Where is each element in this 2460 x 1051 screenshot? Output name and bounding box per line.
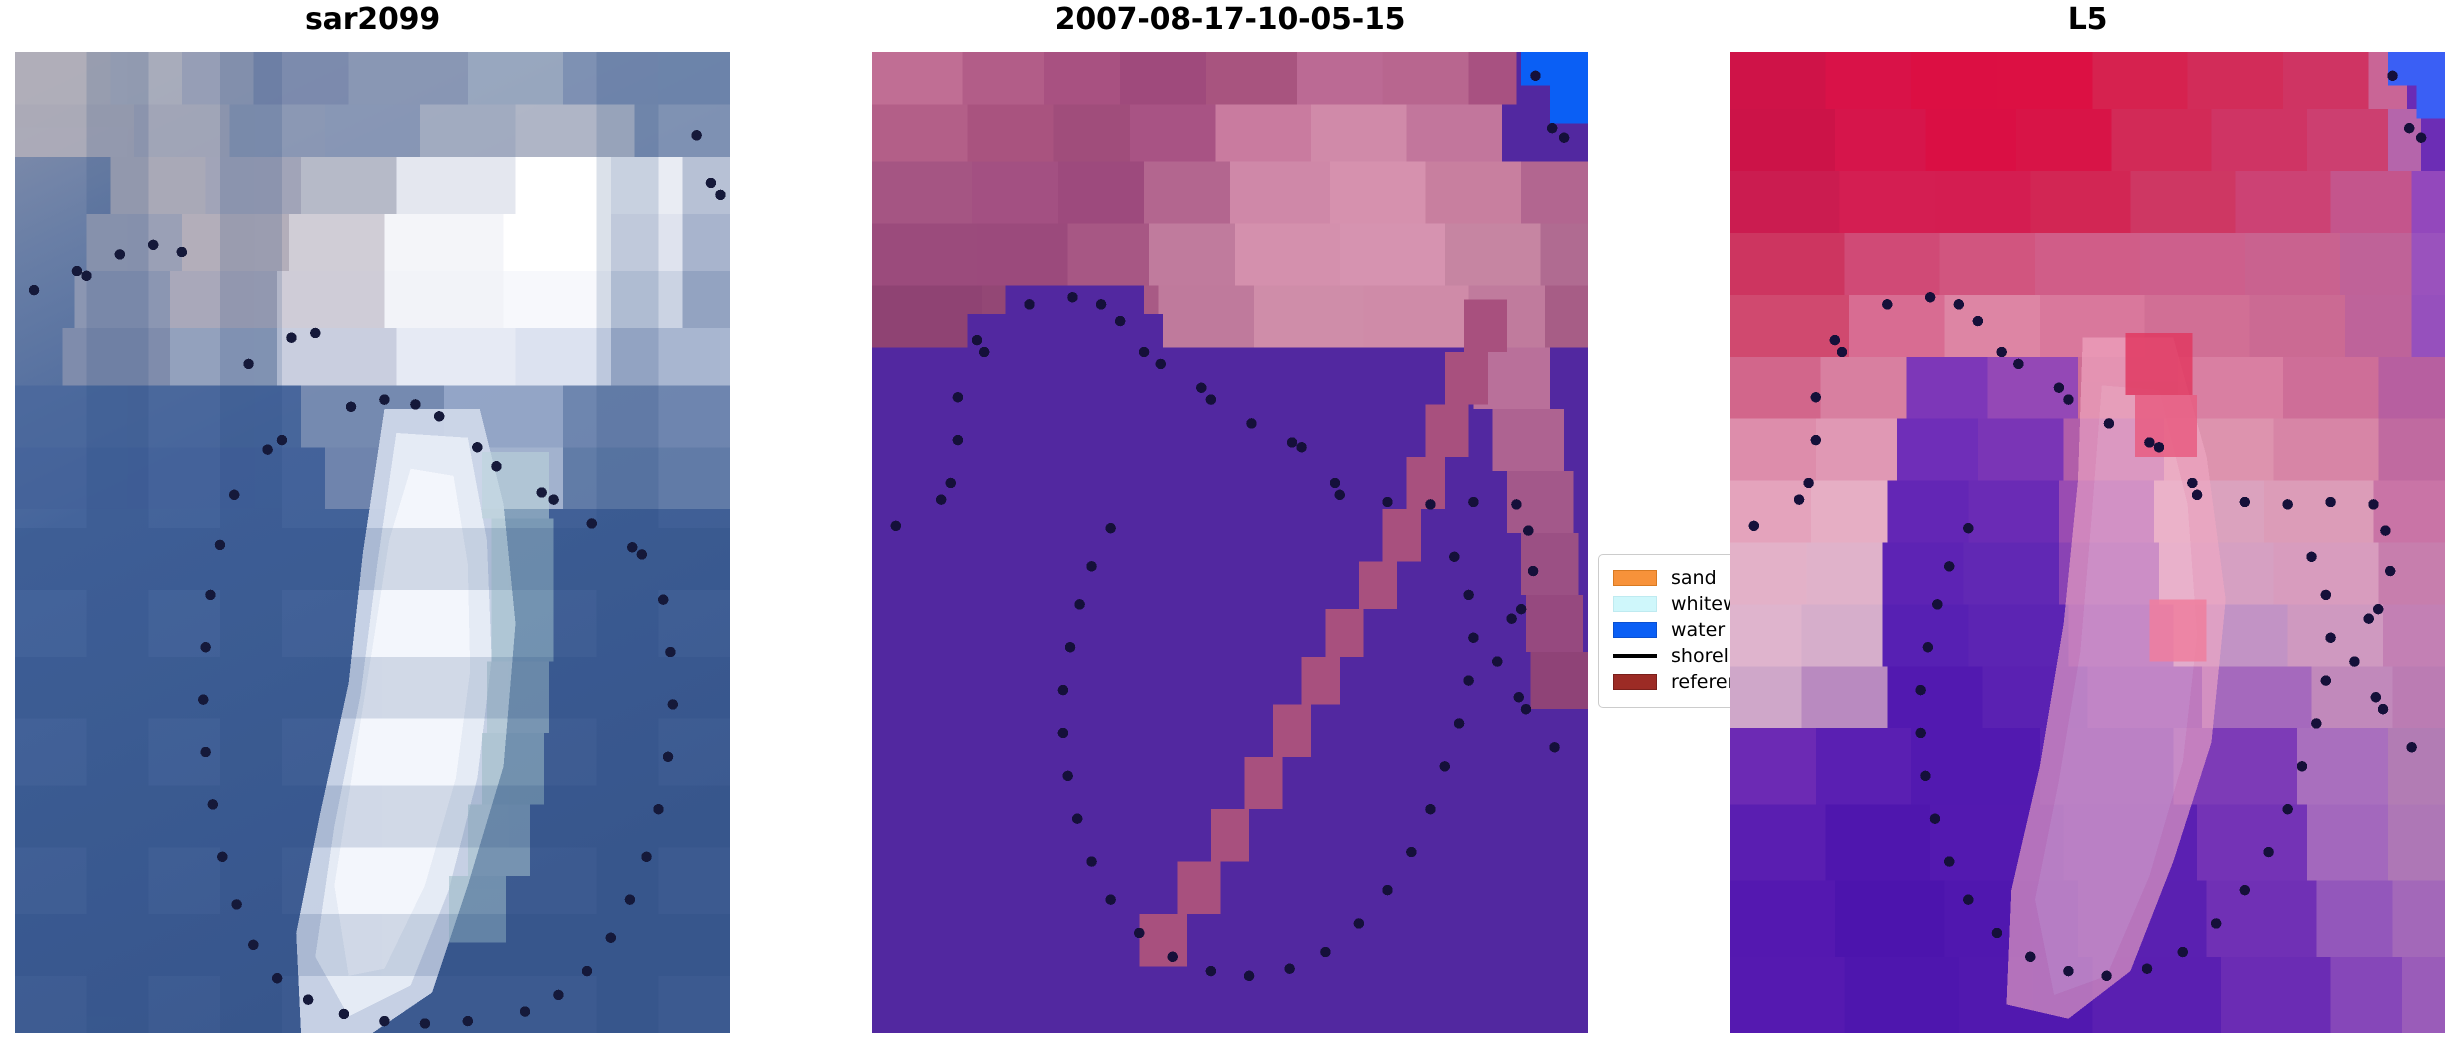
legend-label-sand: sand — [1671, 565, 1717, 591]
figure-canvas: sar2099 — [0, 0, 2460, 1051]
reference-shoreline-swatch — [1613, 674, 1657, 690]
sand-swatch — [1613, 570, 1657, 586]
panel-title-classification: 2007-08-17-10-05-15 — [872, 0, 1588, 46]
legend-label-water: water — [1671, 617, 1725, 643]
whitewater-swatch — [1613, 596, 1657, 612]
l5-raster — [1730, 52, 2445, 1033]
panel-title-sar: sar2099 — [15, 0, 730, 46]
shoreline-line-swatch — [1613, 654, 1657, 658]
sar-raster — [15, 52, 730, 1033]
panel-l5[interactable] — [1730, 52, 2445, 1033]
panel-title-l5: L5 — [1730, 0, 2445, 46]
classification-raster — [872, 52, 1588, 1033]
panel-classification[interactable] — [872, 52, 1588, 1033]
panel-sar[interactable] — [15, 52, 730, 1033]
water-swatch — [1613, 622, 1657, 638]
